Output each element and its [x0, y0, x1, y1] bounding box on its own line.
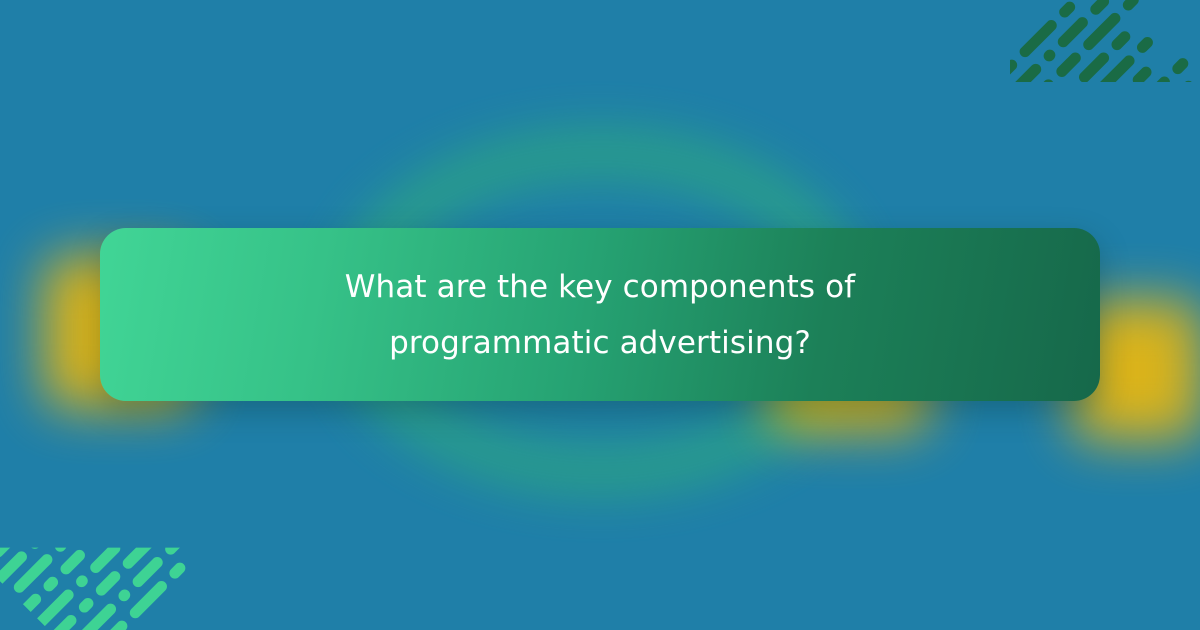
card-title: What are the key components of programma…	[100, 259, 1100, 371]
title-card: What are the key components of programma…	[100, 228, 1100, 401]
corner-decoration-bottom-left	[0, 455, 190, 630]
corner-decoration-top-right	[1010, 0, 1200, 175]
social-card-canvas: What are the key components of programma…	[0, 0, 1200, 630]
